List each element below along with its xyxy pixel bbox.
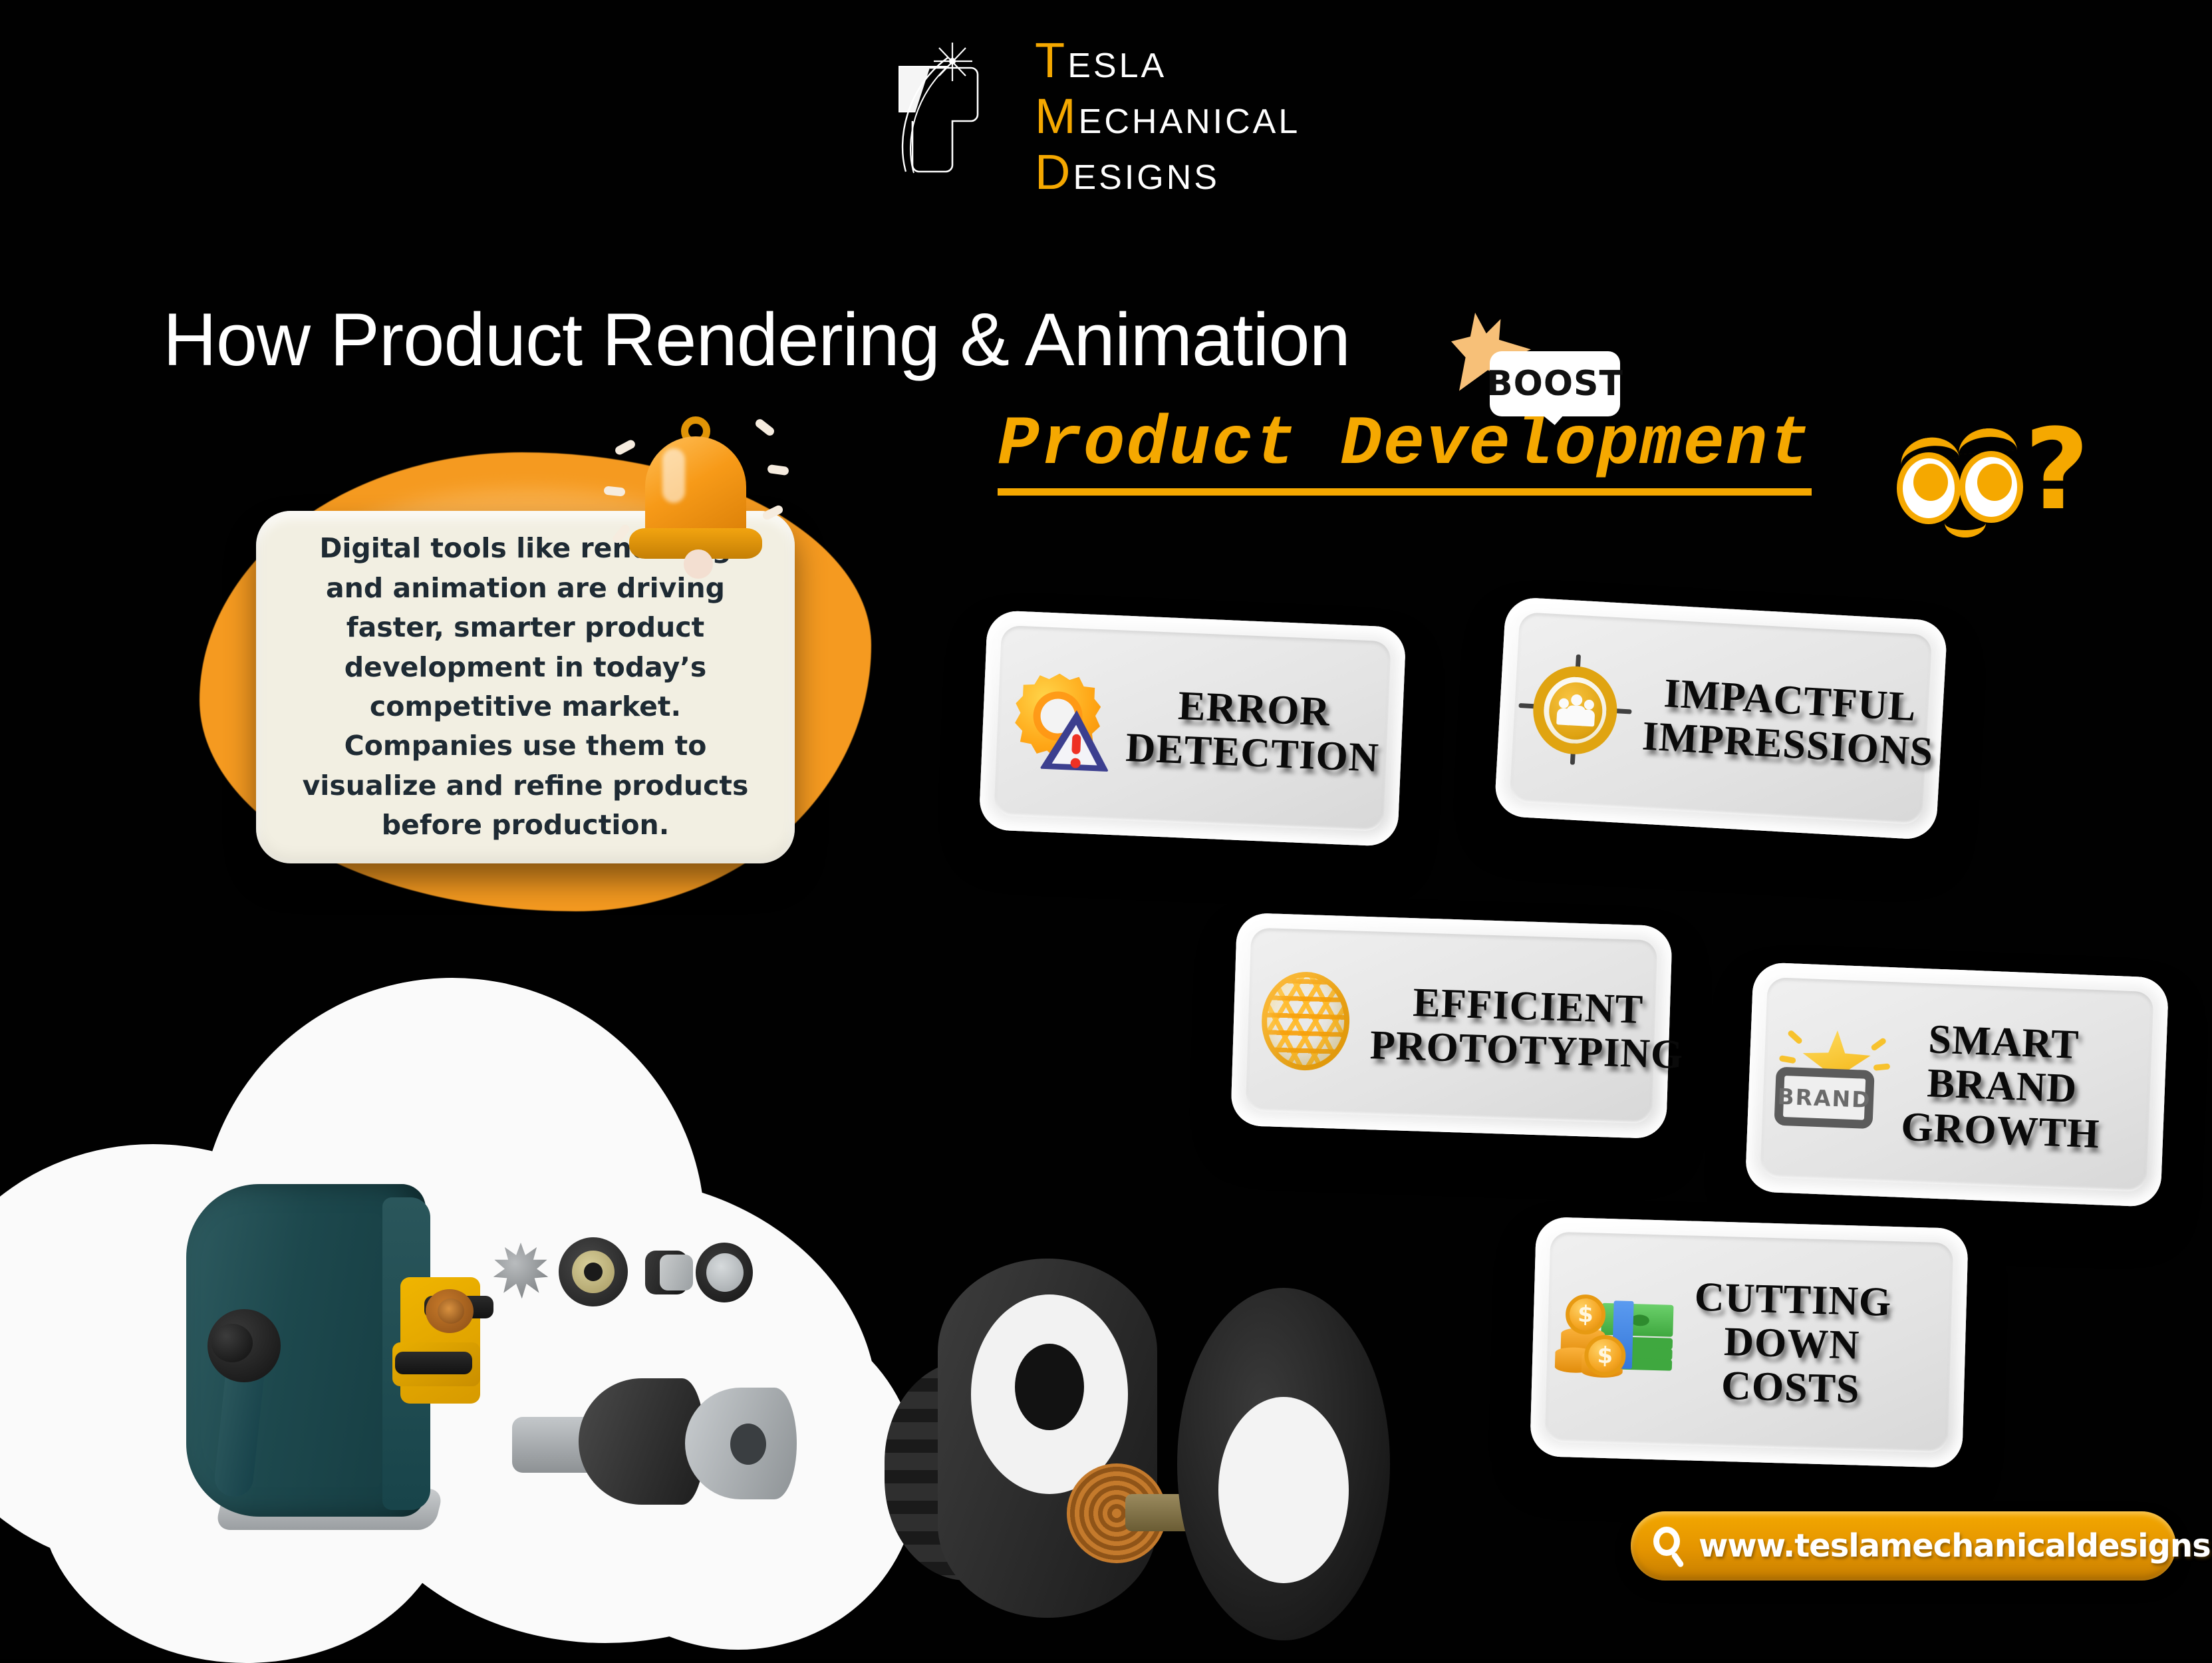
star-ray [1870, 1037, 1887, 1052]
website-url-pill[interactable]: www.teslamechanicaldesigns.com [1631, 1511, 2176, 1581]
feature-card-error-detection[interactable]: ERROR DETECTION [978, 610, 1406, 847]
sphere-mesh [1260, 971, 1351, 1072]
exploded-view-product-render [0, 958, 1224, 1663]
feature-label-line-2: DOWN [1693, 1318, 1891, 1368]
mouth-icon [1945, 523, 1986, 537]
googly-eyes-icon: ? [1894, 426, 2094, 539]
logo-rest-esigns: ESIGNS [1073, 158, 1220, 197]
notification-bell-icon [617, 404, 777, 571]
boost-badge: BOOST [1451, 313, 1631, 419]
feature-card-efficient-prototyping[interactable]: EFFICIENT PROTOTYPING [1230, 913, 1673, 1139]
logo-cap-d: D [1035, 144, 1073, 200]
pencil-sharpener-body [113, 1177, 485, 1550]
bell-clapper [684, 549, 713, 579]
search-lens [1653, 1527, 1680, 1556]
logo-cap-m: M [1035, 88, 1079, 144]
headline-line-1: How Product Rendering & Animation [163, 297, 1350, 382]
star-ray [1787, 1029, 1804, 1044]
star-ray [1779, 1055, 1796, 1064]
bell-dome [645, 436, 746, 543]
exclamation-bar [1071, 734, 1081, 754]
brand-wordmark: TESLA MECHANICAL DESIGNS [1035, 36, 1300, 197]
tmd-monogram-icon [891, 40, 1018, 193]
speaker-dustcap-part [1218, 1397, 1349, 1583]
sharpener-pin [395, 1352, 472, 1374]
magnet-plate-bore [730, 1424, 766, 1465]
logo-line-mechanical: MECHANICAL [1035, 92, 1300, 141]
logo-line-tesla: TESLA [1035, 36, 1300, 85]
coin-icon: $ [1565, 1294, 1606, 1335]
brand-star-icon: BRAND [1770, 1022, 1890, 1137]
search-icon [1651, 1525, 1692, 1567]
speaker-cone-bore [1015, 1344, 1084, 1430]
gear-warning-icon [1004, 667, 1115, 778]
headline-block: How Product Rendering & Animation Produc… [0, 279, 2212, 519]
search-handle [1671, 1552, 1685, 1569]
feature-label-error-detection: ERROR DETECTION [1125, 682, 1381, 780]
logo-cap-t: T [1035, 33, 1067, 88]
feature-label-line-1: CUTTING [1694, 1275, 1892, 1324]
person-head-right [1584, 699, 1594, 710]
brand-logo: TESLA MECHANICAL DESIGNS [891, 33, 1357, 200]
pupil-left [1913, 464, 1948, 501]
website-url-text: www.teslamechanicaldesigns.com [1699, 1527, 2212, 1565]
question-mark-icon: ? [2024, 414, 2089, 526]
logo-line-designs: DESIGNS [1035, 148, 1300, 197]
eye-right-icon [1959, 451, 2023, 523]
copper-bore [438, 1298, 464, 1324]
feature-label-line-3: GROWTH [1900, 1105, 2100, 1157]
feature-label-efficient-prototyping: EFFICIENT PROTOTYPING [1369, 979, 1685, 1077]
eye-left-icon [1897, 452, 1961, 524]
person-head-center [1571, 694, 1583, 706]
cup-insert-part [660, 1255, 693, 1290]
people-group-icon [1558, 693, 1595, 728]
feature-label-smart-brand-growth: SMART BRAND GROWTH [1900, 1016, 2104, 1156]
feature-card-impactful-impressions[interactable]: IMPACTFUL IMPRESSIONS [1494, 597, 1947, 841]
pupil-right [1977, 464, 2012, 501]
headline-line-2: Product Development [998, 406, 1812, 496]
target-audience-icon [1520, 654, 1632, 766]
feature-label-line-2: PROTOTYPING [1369, 1023, 1684, 1077]
money-savings-icon: $ $ [1554, 1285, 1680, 1392]
brand-plate: BRAND [1774, 1067, 1874, 1130]
gasket-bore-part [584, 1263, 603, 1281]
person-body-left [1556, 708, 1571, 725]
person-body-right [1580, 709, 1595, 726]
banknote [1601, 1302, 1673, 1336]
feature-card-cutting-down-costs[interactable]: $ $ CUTTING DOWN COSTS [1530, 1217, 1969, 1468]
eyebrow-right-icon [1957, 426, 2017, 454]
feature-label-line-2: BRAND [1902, 1060, 2102, 1112]
brand-plate-label: BRAND [1777, 1083, 1872, 1112]
wireframe-sphere-icon [1255, 967, 1358, 1076]
washer-insert-part [706, 1253, 744, 1292]
crank-knob [211, 1324, 253, 1362]
feature-label-cutting-down-costs: CUTTING DOWN COSTS [1691, 1275, 1892, 1412]
star-ray [1873, 1063, 1891, 1070]
feature-label-line-3: COSTS [1691, 1363, 1889, 1413]
feature-label-impactful-impressions: IMPACTFUL IMPRESSIONS [1641, 670, 1937, 774]
feature-card-smart-brand-growth[interactable]: BRAND SMART BRAND GROWTH [1745, 962, 2169, 1207]
bell-spark [754, 418, 775, 438]
boost-label: BOOST [1486, 364, 1623, 404]
logo-rest-esla: ESLA [1067, 47, 1167, 85]
logo-rest-echanical: ECHANICAL [1079, 102, 1301, 141]
intro-body-text: Digital tools like rendering and animati… [291, 529, 760, 845]
boost-chip: BOOST [1490, 351, 1620, 416]
bell-spark [614, 438, 636, 456]
feature-label-line-2: DETECTION [1125, 726, 1380, 780]
